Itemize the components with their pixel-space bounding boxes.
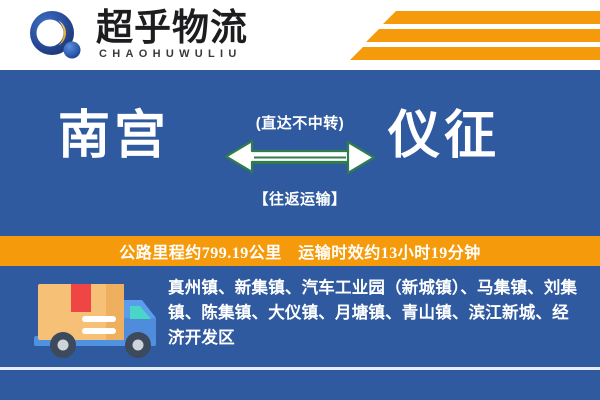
circle-crescent-logo-icon [28,10,84,62]
banner-header: 超乎物流 CHAOHUWULIU [0,0,600,70]
coverage-panel: 真州镇、新集镇、汽车工业园（新城镇）、马集镇、刘集镇、陈集镇、大仪镇、月塘镇、青… [0,266,600,400]
bottom-divider [0,367,600,370]
brand-name-en: CHAOHUWULIU [99,48,242,60]
header-stripe-1 [383,11,600,24]
coverage-towns-list: 真州镇、新集镇、汽车工业园（新城镇）、马集镇、刘集镇、陈集镇、大仪镇、月塘镇、青… [168,275,582,350]
route-note-direct: (直达不中转) [0,112,600,133]
route-info-bar: 公路里程约799.19公里 运输时效约13小时19分钟 [0,236,600,266]
route-info-text: 公路里程约799.19公里 运输时效约13小时19分钟 [119,239,481,263]
logistics-route-banner: 超乎物流 CHAOHUWULIU 南宫 仪征 (直达不中转) 【往返运输】 公路… [0,0,600,400]
delivery-truck-icon [28,274,164,364]
double-headed-arrow-icon [222,138,378,180]
header-stripe-3 [350,47,600,60]
route-panel: 南宫 仪征 (直达不中转) 【往返运输】 [0,70,600,236]
header-stripe-2 [366,29,600,42]
route-note-roundtrip: 【往返运输】 [0,188,600,209]
brand-name-cn: 超乎物流 [96,8,248,48]
